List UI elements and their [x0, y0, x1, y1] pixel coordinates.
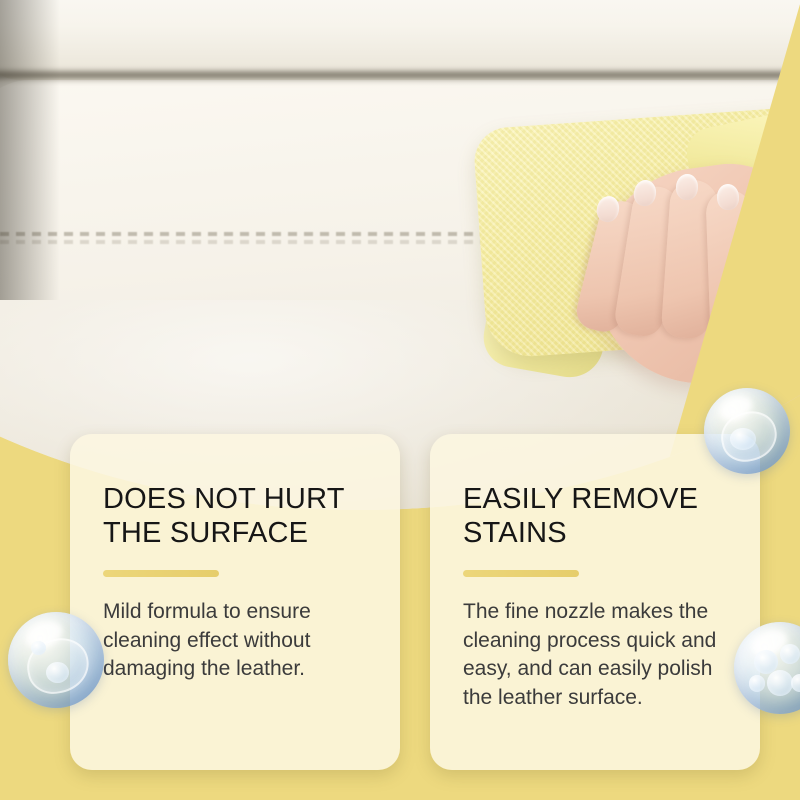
water-bubble-icon — [8, 612, 104, 708]
bubble-droplet — [767, 670, 793, 696]
bubble-droplet — [791, 674, 800, 692]
accent-divider — [463, 570, 579, 577]
card-content: DOES NOT HURT THE SURFACE Mild formula t… — [70, 434, 400, 770]
bubble-droplet — [780, 644, 800, 664]
card-body-text: The fine nozzle makes the cleaning proce… — [463, 598, 732, 712]
fingernail-pinky — [717, 184, 740, 211]
product-feature-banner: DOES NOT HURT THE SURFACE Mild formula t… — [0, 0, 800, 800]
feature-card-does-not-hurt-the-surface: DOES NOT HURT THE SURFACE Mild formula t… — [70, 434, 400, 770]
card-body-text: Mild formula to ensure cleaning effect w… — [103, 598, 372, 684]
card-title: EASILY REMOVE STAINS — [463, 482, 732, 550]
photo-left-shadow — [0, 0, 60, 300]
water-bubble-icon — [704, 388, 790, 474]
bubble-droplet — [730, 428, 756, 450]
accent-divider — [103, 570, 219, 577]
sofa-seam-shadow — [0, 68, 800, 84]
card-title: DOES NOT HURT THE SURFACE — [103, 482, 372, 550]
card-content: EASILY REMOVE STAINS The fine nozzle mak… — [430, 434, 760, 770]
bubble-droplet — [749, 675, 766, 692]
feature-card-easily-remove-stains: EASILY REMOVE STAINS The fine nozzle mak… — [430, 434, 760, 770]
